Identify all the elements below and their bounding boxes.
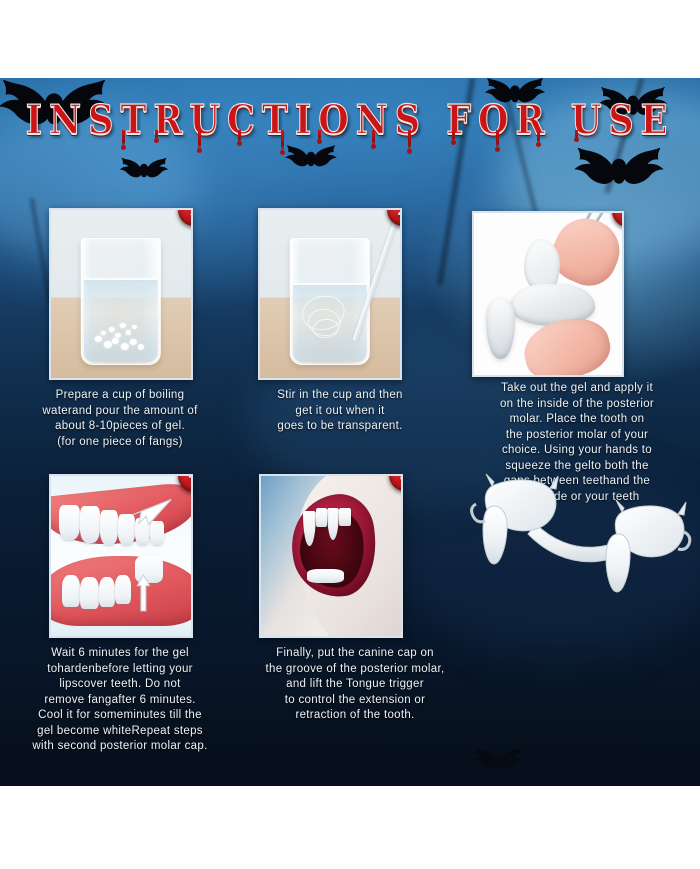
gel-application-scene bbox=[474, 213, 622, 375]
upper-tooth bbox=[59, 505, 80, 540]
lower-teeth-row bbox=[307, 569, 343, 583]
step-1-photo: 1 bbox=[49, 208, 193, 380]
step-number-text: 1 bbox=[188, 208, 193, 220]
step-number-text: 2 bbox=[397, 208, 402, 220]
step-4-caption: Wait 6 minutes for the gel tohardenbefor… bbox=[3, 646, 237, 755]
lower-tooth bbox=[80, 577, 98, 609]
step-2-caption: Stir in the cup and then get it out when… bbox=[240, 388, 440, 435]
gel-bead bbox=[137, 344, 143, 350]
upper-tooth bbox=[80, 506, 100, 543]
vampire-mouth-scene bbox=[261, 476, 401, 636]
upper-incisor bbox=[339, 508, 350, 526]
gel-bead bbox=[95, 336, 102, 342]
lower-tooth bbox=[62, 575, 80, 607]
glass-being-stirred-scene bbox=[260, 210, 400, 378]
gel-bead bbox=[130, 339, 137, 345]
vampire-fang-appliance-product-photo bbox=[470, 468, 700, 598]
page-title-wrapper: INSTRUCTIONS FOR USE bbox=[0, 100, 700, 141]
gel-bead bbox=[121, 343, 129, 350]
step-5-caption: Finally, put the canine cap on the groov… bbox=[238, 646, 472, 724]
step-5-photo: 5 bbox=[259, 474, 403, 638]
gel-bead bbox=[120, 323, 126, 328]
step-number-text: 4 bbox=[188, 474, 193, 486]
dental-model-scene bbox=[51, 476, 191, 636]
drinking-glass bbox=[290, 238, 370, 364]
instructions-page: INSTRUCTIONS FOR USE bbox=[0, 0, 700, 869]
gel-beads-group bbox=[90, 304, 153, 356]
upper-tooth bbox=[118, 514, 135, 544]
drinking-glass bbox=[81, 238, 161, 364]
step-number-text: 5 bbox=[399, 474, 403, 485]
upper-incisor bbox=[316, 508, 327, 527]
gel-bead bbox=[126, 330, 131, 335]
fang-tip-left bbox=[486, 297, 516, 359]
gel-bead bbox=[101, 331, 106, 335]
page-title: INSTRUCTIONS FOR USE bbox=[26, 97, 675, 144]
lower-tooth bbox=[99, 577, 116, 607]
molar-cap-fitted bbox=[135, 556, 163, 583]
step-2-photo: 2 bbox=[258, 208, 402, 380]
gel-bead bbox=[108, 327, 114, 332]
gel-bead bbox=[132, 325, 137, 329]
upper-tooth bbox=[100, 510, 118, 545]
top-white-margin bbox=[0, 0, 700, 78]
upper-tooth bbox=[135, 518, 150, 545]
step-1-caption: Prepare a cup of boiling waterand pour t… bbox=[6, 388, 234, 450]
step-4-photo: 4 bbox=[49, 474, 193, 638]
lower-tooth bbox=[115, 575, 130, 604]
gel-bead bbox=[112, 338, 119, 344]
glass-of-water-scene bbox=[51, 210, 191, 378]
step-3-photo: 3 bbox=[472, 211, 624, 377]
bottom-white-margin bbox=[0, 786, 700, 869]
upper-tooth bbox=[150, 521, 164, 545]
gel-bead bbox=[115, 333, 121, 338]
gel-bead bbox=[103, 341, 111, 348]
step-number-text: 3 bbox=[622, 211, 624, 221]
